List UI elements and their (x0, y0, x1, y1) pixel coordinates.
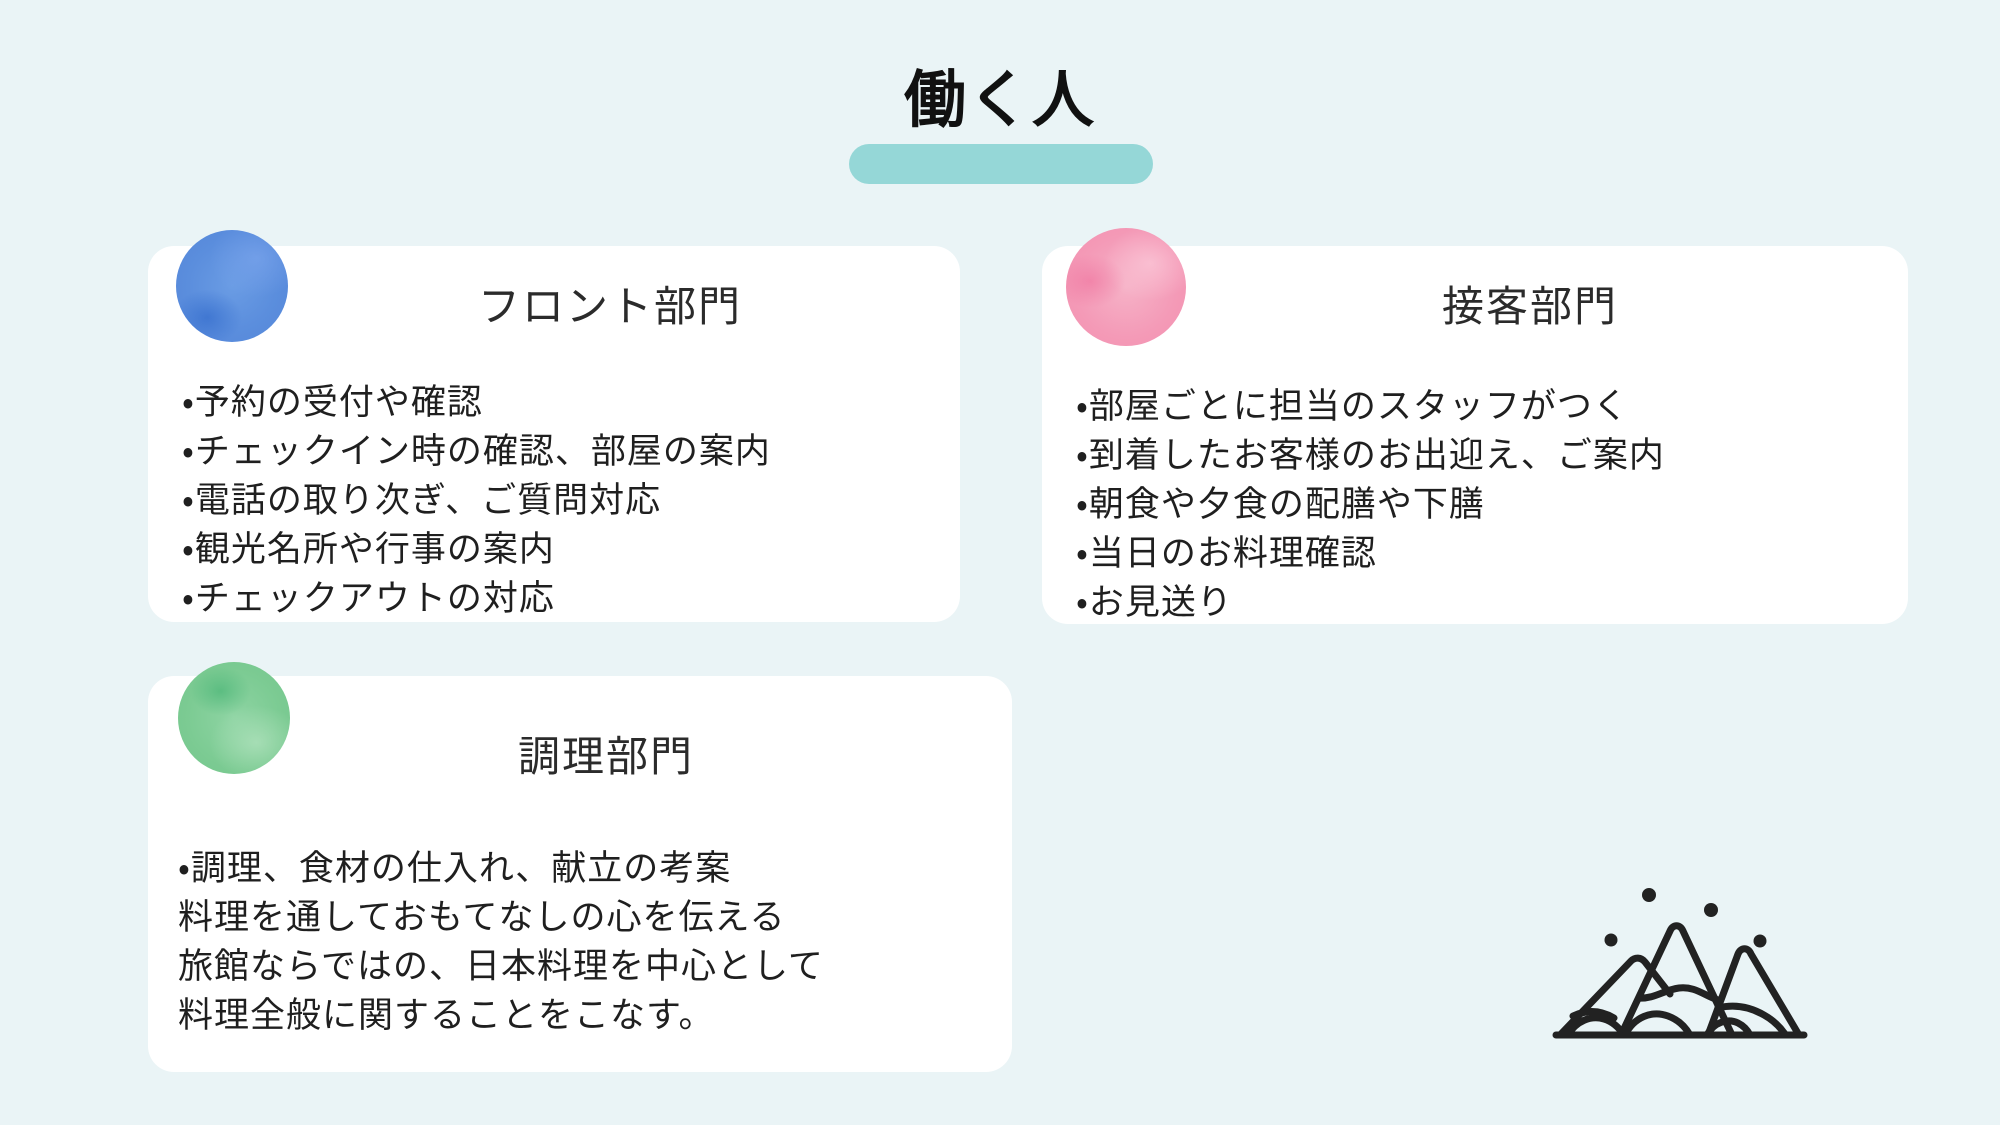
card-body: ・部屋ごとに担当のスタッフがつく ・到着したお客様のお出迎え、ご案内 ・朝食や夕… (1076, 382, 1665, 627)
card-header: 接客部門 (1042, 246, 1908, 364)
list-item: ・チェックアウトの対応 (182, 574, 771, 623)
card-header: フロント部門 (148, 246, 960, 364)
pink-watercolor-circle-icon (1066, 228, 1186, 346)
blue-watercolor-circle-icon (176, 230, 288, 342)
list-item: ・観光名所や行事の案内 (182, 525, 771, 574)
card-front-department: フロント部門 ・予約の受付や確認 ・チェックイン時の確認、部屋の案内 ・電話の取… (148, 246, 960, 622)
mountains-icon (1542, 858, 1838, 1058)
body-line: 料理全般に関することをこなす。 (178, 991, 824, 1040)
card-title: 調理部門 (518, 698, 694, 816)
list-item: ・当日のお料理確認 (1076, 529, 1665, 578)
title-highlight-bar (849, 144, 1153, 184)
list-item: ・チェックイン時の確認、部屋の案内 (182, 427, 771, 476)
list-item: ・到着したお客様のお出迎え、ご案内 (1076, 431, 1665, 480)
body-line: 旅館ならではの、日本料理を中心として (178, 942, 824, 991)
list-item: ・予約の受付や確認 (182, 378, 771, 427)
card-service-department: 接客部門 ・部屋ごとに担当のスタッフがつく ・到着したお客様のお出迎え、ご案内 … (1042, 246, 1908, 624)
card-header: 調理部門 (148, 676, 1012, 794)
card-body: ・調理、食材の仕入れ、献立の考案 料理を通しておもてなしの心を伝える 旅館ならで… (178, 844, 824, 1040)
list-item: ・お見送り (1076, 578, 1665, 627)
body-line: 料理を通しておもてなしの心を伝える (178, 893, 824, 942)
card-title: フロント部門 (478, 248, 742, 366)
card-body: ・予約の受付や確認 ・チェックイン時の確認、部屋の案内 ・電話の取り次ぎ、ご質問… (182, 378, 771, 623)
card-kitchen-department: 調理部門 ・調理、食材の仕入れ、献立の考案 料理を通しておもてなしの心を伝える … (148, 676, 1012, 1072)
page-title: 働く人 (0, 62, 2000, 140)
list-item: ・電話の取り次ぎ、ご質問対応 (182, 476, 771, 525)
list-item: ・調理、食材の仕入れ、献立の考案 (178, 844, 824, 893)
page-title-block: 働く人 (0, 62, 2000, 192)
green-watercolor-circle-icon (178, 662, 290, 774)
card-title: 接客部門 (1442, 248, 1618, 366)
list-item: ・部屋ごとに担当のスタッフがつく (1076, 382, 1665, 431)
list-item: ・朝食や夕食の配膳や下膳 (1076, 480, 1665, 529)
